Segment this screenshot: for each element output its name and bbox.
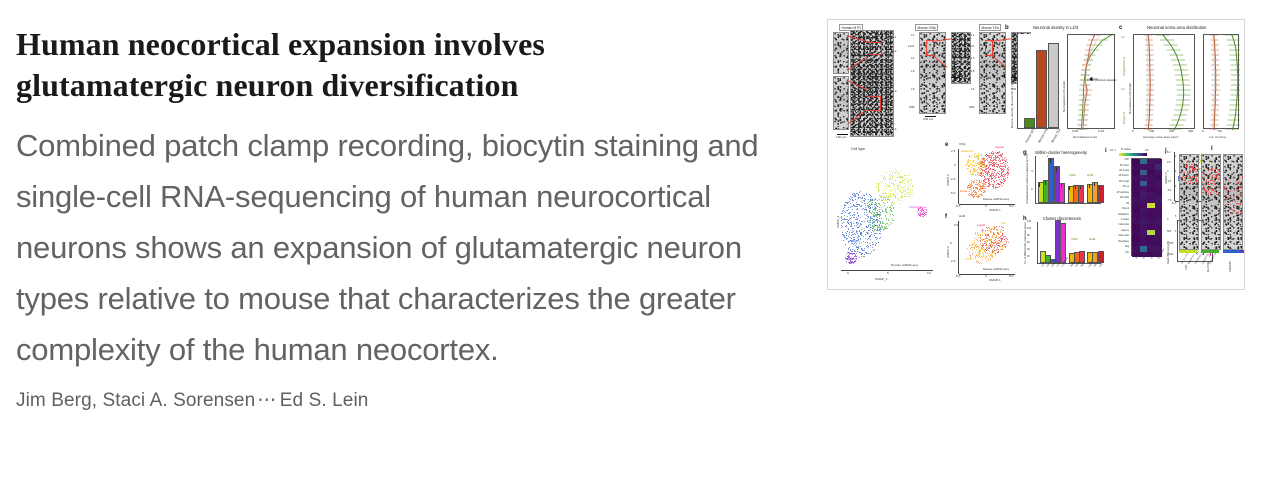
umap-point: [879, 203, 880, 204]
umap-point: [889, 186, 890, 187]
panel-l-cell-marker: [1192, 176, 1193, 177]
panel-f-caption: Mouse scRNA-seq: [983, 268, 1009, 271]
panel-l-cell-marker: [1210, 180, 1211, 181]
umap-point: [924, 215, 925, 216]
umap-point: [987, 253, 988, 254]
umap-point: [1005, 236, 1006, 237]
umap-point: [864, 195, 865, 196]
umap-point: [984, 176, 985, 177]
panel-c-xlabel2: s.d. of soma: [1209, 136, 1226, 139]
panel-d-cluster-col22a1: COL22A1: [909, 206, 923, 209]
umap-point: [970, 171, 971, 172]
umap-point: [857, 233, 858, 234]
umap-point: [893, 215, 894, 216]
umap-point: [870, 239, 871, 240]
umap-point: [991, 176, 992, 177]
umap-point: [969, 251, 970, 252]
umap-point: [985, 250, 986, 251]
panel-c-title: Neuronal soma area distribution: [1147, 25, 1206, 30]
umap-point: [877, 215, 878, 216]
panel-i-row-17: Tau: [1107, 252, 1129, 255]
umap-point: [979, 181, 980, 182]
panel-l-cell-marker: [1207, 175, 1208, 176]
umap-point: [883, 193, 884, 194]
umap-point: [978, 191, 979, 192]
umap-point: [975, 157, 976, 158]
umap-point: [871, 213, 872, 214]
panel-l-depth-tick: 5: [1175, 216, 1176, 219]
panel-l: l LTK GLP2R FREM3 1111222233334444555566…: [1215, 148, 1241, 284]
umap-point: [855, 234, 856, 235]
panel-l-cell-marker: [1238, 179, 1239, 180]
umap-point: [905, 185, 906, 186]
umap-point: [882, 196, 883, 197]
umap-point: [995, 157, 996, 158]
panel-l-cell-marker: [1220, 183, 1221, 184]
umap-point: [1008, 167, 1009, 168]
umap-point: [897, 172, 898, 173]
panel-c-xtick-200: 200: [1169, 130, 1174, 133]
umap-point: [1003, 166, 1004, 167]
umap-point: [856, 209, 857, 210]
umap-point: [895, 191, 896, 192]
panel-l-cell-marker: [1237, 183, 1238, 184]
panel-l-column-ltk: [1179, 154, 1199, 250]
panel-l-cell-marker: [1230, 213, 1231, 214]
layer-label-human-L4: L4: [893, 128, 896, 131]
panel-l-letter: l: [1211, 146, 1213, 152]
umap-point: [986, 182, 987, 183]
panel-i-row-0: AHP: [1107, 159, 1129, 162]
umap-point: [996, 250, 997, 251]
panel-l-depth-tick: 6: [1219, 231, 1220, 234]
umap-point: [1003, 171, 1004, 172]
umap-point: [982, 260, 983, 261]
umap-point: [864, 248, 865, 249]
panel-e-xtick-0: -5.0: [955, 205, 960, 208]
panel-l-cell-marker: [1216, 177, 1217, 178]
panel-l-cell-marker: [1224, 205, 1225, 206]
umap-point: [972, 247, 973, 248]
umap-point: [864, 214, 865, 215]
panel-e-umap-scatter[interactable]: [959, 149, 1015, 199]
umap-point: [998, 160, 999, 161]
umap-point: [859, 192, 860, 193]
page-title[interactable]: Human neocortical expansion involves glu…: [16, 24, 696, 106]
umap-point: [871, 234, 872, 235]
umap-point: [912, 186, 913, 187]
umap-point: [905, 193, 906, 194]
umap-point: [996, 249, 997, 250]
panel-b-xtick-005: 0.05: [1072, 130, 1078, 133]
panel-l-cell-marker: [1186, 176, 1187, 177]
panel-i-row-13: Latency: [1107, 230, 1129, 233]
panel-l-cell-marker: [1210, 188, 1211, 189]
umap-point: [996, 244, 997, 245]
panel-l-cell-marker: [1234, 196, 1235, 197]
umap-point: [978, 254, 979, 255]
umap-point: [1004, 239, 1005, 240]
umap-point: [977, 157, 978, 158]
scale-label-human: 100 μm: [836, 136, 846, 139]
umap-point: [974, 168, 975, 169]
umap-point: [901, 195, 902, 196]
umap-point: [876, 233, 877, 234]
umap-point: [975, 166, 976, 167]
umap-point: [985, 184, 986, 185]
panel-d-cluster-cartpt: CARTPT: [845, 258, 857, 261]
umap-point: [969, 191, 970, 192]
umap-point: [891, 202, 892, 203]
panel-l-cell-marker: [1216, 188, 1217, 189]
umap-point: [888, 225, 889, 226]
umap-point: [1005, 163, 1006, 164]
umap-point: [856, 253, 857, 254]
umap-point: [996, 237, 997, 238]
panel-b-bar-axes: [1017, 34, 1059, 129]
umap-point: [967, 187, 968, 188]
scale-label-visp: 100 μm: [923, 118, 933, 121]
panel-c-depth-L2: L2: [1121, 36, 1124, 39]
panel-l-depth-tick: 2: [1219, 171, 1220, 174]
panel-c-right-axes: [1203, 34, 1239, 129]
umap-point: [1003, 174, 1004, 175]
umap-point: [897, 189, 898, 190]
umap-point: [987, 240, 988, 241]
panel-h-ytick-80: 80: [1027, 234, 1030, 237]
umap-point: [866, 194, 867, 195]
panel-l-cell-marker: [1185, 179, 1186, 180]
umap-point: [861, 229, 862, 230]
panel-l-cell-marker: [1230, 197, 1231, 198]
panel-l-cell-marker: [1197, 166, 1198, 167]
umap-point: [978, 157, 979, 158]
panel-b-annotation: 0.075 (minimum density): [1087, 79, 1116, 82]
layer-label-human-L2: L2: [893, 50, 896, 53]
umap-point: [1002, 185, 1003, 186]
panel-l-cell-marker: [1236, 199, 1237, 200]
umap-point: [986, 257, 987, 258]
umap-point: [879, 183, 880, 184]
panel-l-cell-marker: [1239, 190, 1240, 191]
umap-point: [876, 203, 877, 204]
umap-point: [980, 154, 981, 155]
panel-b-series-1: [1083, 35, 1095, 130]
layer-label-visp-L5: L5: [911, 70, 914, 73]
panel-l-depth-tick: 3: [1197, 186, 1198, 189]
umap-point: [978, 156, 979, 157]
umap-point: [984, 188, 985, 189]
panel-c: c Neuronal soma area distribution Normal…: [1119, 24, 1241, 146]
umap-point: [1005, 244, 1006, 245]
umap-point: [987, 230, 988, 231]
umap-point: [891, 171, 892, 172]
umap-point: [970, 189, 971, 190]
umap-point: [903, 191, 904, 192]
umap-point: [886, 200, 887, 201]
umap-point: [897, 193, 898, 194]
umap-point: [842, 211, 843, 212]
umap-point: [997, 252, 998, 253]
panel-l-cell-marker: [1187, 171, 1188, 172]
panel-l-cell-marker: [1189, 167, 1190, 168]
panel-l-depth-tick: 3: [1219, 186, 1220, 189]
umap-point: [879, 238, 880, 239]
panel-l-cell-marker: [1186, 167, 1187, 168]
panel-g-group-alm: ALM: [1087, 174, 1093, 177]
figure-canvas: Human MTG L1 L2 L3 L4 100 μm Mouse VISp: [833, 24, 1241, 286]
umap-point: [866, 212, 867, 213]
umap-point: [995, 163, 996, 164]
umap-point: [853, 228, 854, 229]
umap-point: [995, 170, 996, 171]
panel-g-ytick-2: 2: [1031, 188, 1033, 191]
panel-h-group-alm: ALM: [1089, 238, 1095, 241]
panel-l-cell-marker: [1227, 197, 1228, 198]
authors-last: Ed S. Lein: [280, 390, 369, 411]
umap-point: [863, 231, 864, 232]
umap-point: [872, 247, 873, 248]
panel-f-umap-scatter[interactable]: [959, 221, 1015, 269]
umap-point: [1005, 178, 1006, 179]
umap-point: [978, 153, 979, 154]
panel-i-row-5: AP up: [1107, 186, 1129, 189]
umap-point: [841, 220, 842, 221]
panel-i-heatmap-cells: [1132, 159, 1160, 255]
umap-point: [1001, 240, 1002, 241]
umap-point: [850, 253, 851, 254]
umap-point: [1001, 246, 1002, 247]
umap-point: [849, 201, 850, 202]
umap-point: [988, 255, 989, 256]
umap-point: [867, 239, 868, 240]
panel-l-cell-marker: [1211, 170, 1212, 171]
umap-point: [972, 165, 973, 166]
umap-point: [876, 216, 877, 217]
c-left-series-0: [1163, 35, 1184, 130]
panel-c-letter: c: [1119, 25, 1122, 31]
umap-point: [876, 239, 877, 240]
panel-b-density-lines: [1068, 35, 1116, 130]
panel-b: b Neuronal density in L2/3 Neuron densit…: [1005, 24, 1117, 146]
umap-point: [992, 257, 993, 258]
umap-point: [912, 193, 913, 194]
umap-point: [883, 179, 884, 180]
layer-label-tea-L6: L6: [971, 88, 974, 91]
panel-c-xtick-0: 0: [1132, 130, 1134, 133]
panel-i-cbar-max: 10⁰: [1145, 149, 1149, 152]
umap-point: [878, 191, 879, 192]
panel-l-cell-marker: [1184, 172, 1185, 173]
umap-point: [874, 204, 875, 205]
panel-b-xtick-2: Mouse TEa: [1051, 128, 1062, 143]
umap-point: [853, 217, 854, 218]
umap-point: [864, 221, 865, 222]
umap-point: [1005, 157, 1006, 158]
umap-point: [871, 196, 872, 197]
umap-point: [995, 255, 996, 256]
umap-point: [980, 235, 981, 236]
umap-point: [886, 212, 887, 213]
umap-point: [996, 157, 997, 158]
umap-point: [890, 189, 891, 190]
umap-point: [863, 236, 864, 237]
panel-l-cell-marker: [1209, 169, 1210, 170]
umap-point: [899, 184, 900, 185]
panel-k-ytick-500: 500: [1167, 230, 1171, 233]
umap-point: [847, 210, 848, 211]
panel-j-ytick-4: -5.0: [1167, 189, 1171, 192]
umap-point: [994, 250, 995, 251]
layer-label-visp-L4: L4: [911, 57, 914, 60]
umap-point: [872, 200, 873, 201]
umap-point: [982, 235, 983, 236]
umap-point: [969, 166, 970, 167]
article-summary: Combined patch clamp recording, biocytin…: [16, 120, 761, 375]
umap-point: [911, 183, 912, 184]
umap-point: [999, 179, 1000, 180]
panel-l-cell-marker: [1190, 183, 1191, 184]
panel-b-xtick-1: Mouse VISp: [1038, 127, 1049, 143]
umap-point: [858, 216, 859, 217]
panel-l-cell-marker: [1235, 201, 1236, 202]
panel-b-ytick-200: 200: [1011, 60, 1016, 63]
umap-point: [869, 236, 870, 237]
panel-f-xtick-1: 0: [985, 275, 987, 278]
umap-point: [856, 225, 857, 226]
panel-i-row-4: AP trough: [1107, 181, 1129, 184]
umap-point: [907, 180, 908, 181]
umap-point: [878, 185, 879, 186]
panel-l-cell-marker: [1217, 182, 1218, 183]
panel-b-bar-1: [1036, 50, 1047, 128]
umap-point: [880, 231, 881, 232]
umap-point: [996, 229, 997, 230]
umap-point: [844, 207, 845, 208]
panel-l-column-frem3: [1223, 154, 1243, 250]
umap-point: [980, 163, 981, 164]
umap-point: [978, 159, 979, 160]
layer-label-visp-L1: L1: [911, 34, 914, 37]
panel-d-cluster-ltk: LTK: [897, 176, 902, 179]
umap-point: [854, 225, 855, 226]
umap-point: [972, 245, 973, 246]
panel-l-cell-marker: [1231, 187, 1232, 188]
panel-b-xtick-0: Human MTG: [1025, 127, 1037, 144]
umap-point: [872, 199, 873, 200]
panel-c-left-axes: [1133, 34, 1195, 129]
umap-point: [880, 222, 881, 223]
umap-point: [879, 214, 880, 215]
panel-f-cluster-sla: Sla: [1001, 222, 1005, 225]
umap-point: [893, 175, 894, 176]
umap-point: [902, 193, 903, 194]
umap-point: [842, 213, 843, 214]
umap-point: [972, 244, 973, 245]
umap-point: [852, 215, 853, 216]
panel-f-xtick-2: 5.0: [1009, 275, 1013, 278]
umap-point: [874, 216, 875, 217]
umap-point: [851, 222, 852, 223]
panel-l-cells-glp2r: [1202, 155, 1220, 249]
panel-f-yaxis: [958, 221, 959, 274]
umap-point: [988, 234, 989, 235]
umap-point: [989, 228, 990, 229]
panel-l-depth-tick: 4: [1219, 201, 1220, 204]
panel-d-cluster-frem3: FREM3: [849, 240, 860, 243]
panel-g-bars: *: [1036, 156, 1101, 203]
umap-point: [986, 182, 987, 183]
umap-point: [845, 205, 846, 206]
umap-point: [871, 232, 872, 233]
umap-point: [886, 196, 887, 197]
umap-point: [986, 156, 987, 157]
panel-l-cell-marker: [1214, 183, 1215, 184]
panel-c-xtick-100: 100: [1149, 130, 1154, 133]
panel-l-cell-marker: [1210, 192, 1211, 193]
umap-point: [905, 196, 906, 197]
umap-point: [857, 212, 858, 213]
umap-point: [908, 192, 909, 193]
umap-point: [998, 234, 999, 235]
panel-i-row-12: Initial ratio: [1107, 224, 1129, 227]
umap-point: [902, 197, 903, 198]
umap-point: [873, 250, 874, 251]
panel-l-cell-marker: [1212, 179, 1213, 180]
umap-point: [855, 196, 856, 197]
umap-point: [1003, 159, 1004, 160]
panel-c-right-series: [1204, 35, 1240, 130]
umap-point: [872, 223, 873, 224]
panel-g-axes: *: [1035, 156, 1101, 204]
panel-d-umap-scatter[interactable]: [841, 156, 937, 266]
histology-inset-human-bottom: [833, 76, 849, 130]
umap-point: [1001, 235, 1002, 236]
panel-f-ylabel: UMAP-2: [947, 234, 950, 258]
panel-l-depth-tick: 4: [1175, 201, 1176, 204]
umap-point: [977, 169, 978, 170]
umap-point: [987, 235, 988, 236]
panel-e-caption: Mouse scRNA-seq: [983, 198, 1009, 201]
panel-h-group-visp: VISp: [1071, 238, 1078, 241]
umap-point: [861, 254, 862, 255]
panel-k-ytick-0: 0: [1167, 218, 1168, 221]
figure-thumbnail[interactable]: Human MTG L1 L2 L3 L4 100 μm Mouse VISp: [827, 19, 1245, 290]
umap-point: [988, 167, 989, 168]
panel-l-cell-marker: [1194, 177, 1195, 178]
umap-point: [845, 244, 846, 245]
umap-point: [1008, 242, 1009, 243]
panel-i-row-14: Mean rate: [1107, 235, 1129, 238]
panel-e-ytick-2: -2.5: [950, 178, 955, 181]
roi-box-human-1: [869, 42, 882, 55]
umap-point: [971, 155, 972, 156]
umap-point: [883, 195, 884, 196]
umap-point: [859, 220, 860, 221]
umap-point: [867, 203, 868, 204]
umap-point: [921, 211, 922, 212]
panel-e-ytick-3: -5.0: [950, 192, 955, 195]
panel-f-title: ALM: [959, 215, 965, 218]
panel-l-cell-marker: [1230, 208, 1231, 209]
umap-point: [1002, 176, 1003, 177]
umap-point: [993, 229, 994, 230]
umap-point: [864, 230, 865, 231]
umap-point: [975, 234, 976, 235]
umap-point: [926, 212, 927, 213]
umap-point: [976, 254, 977, 255]
umap-point: [975, 192, 976, 193]
